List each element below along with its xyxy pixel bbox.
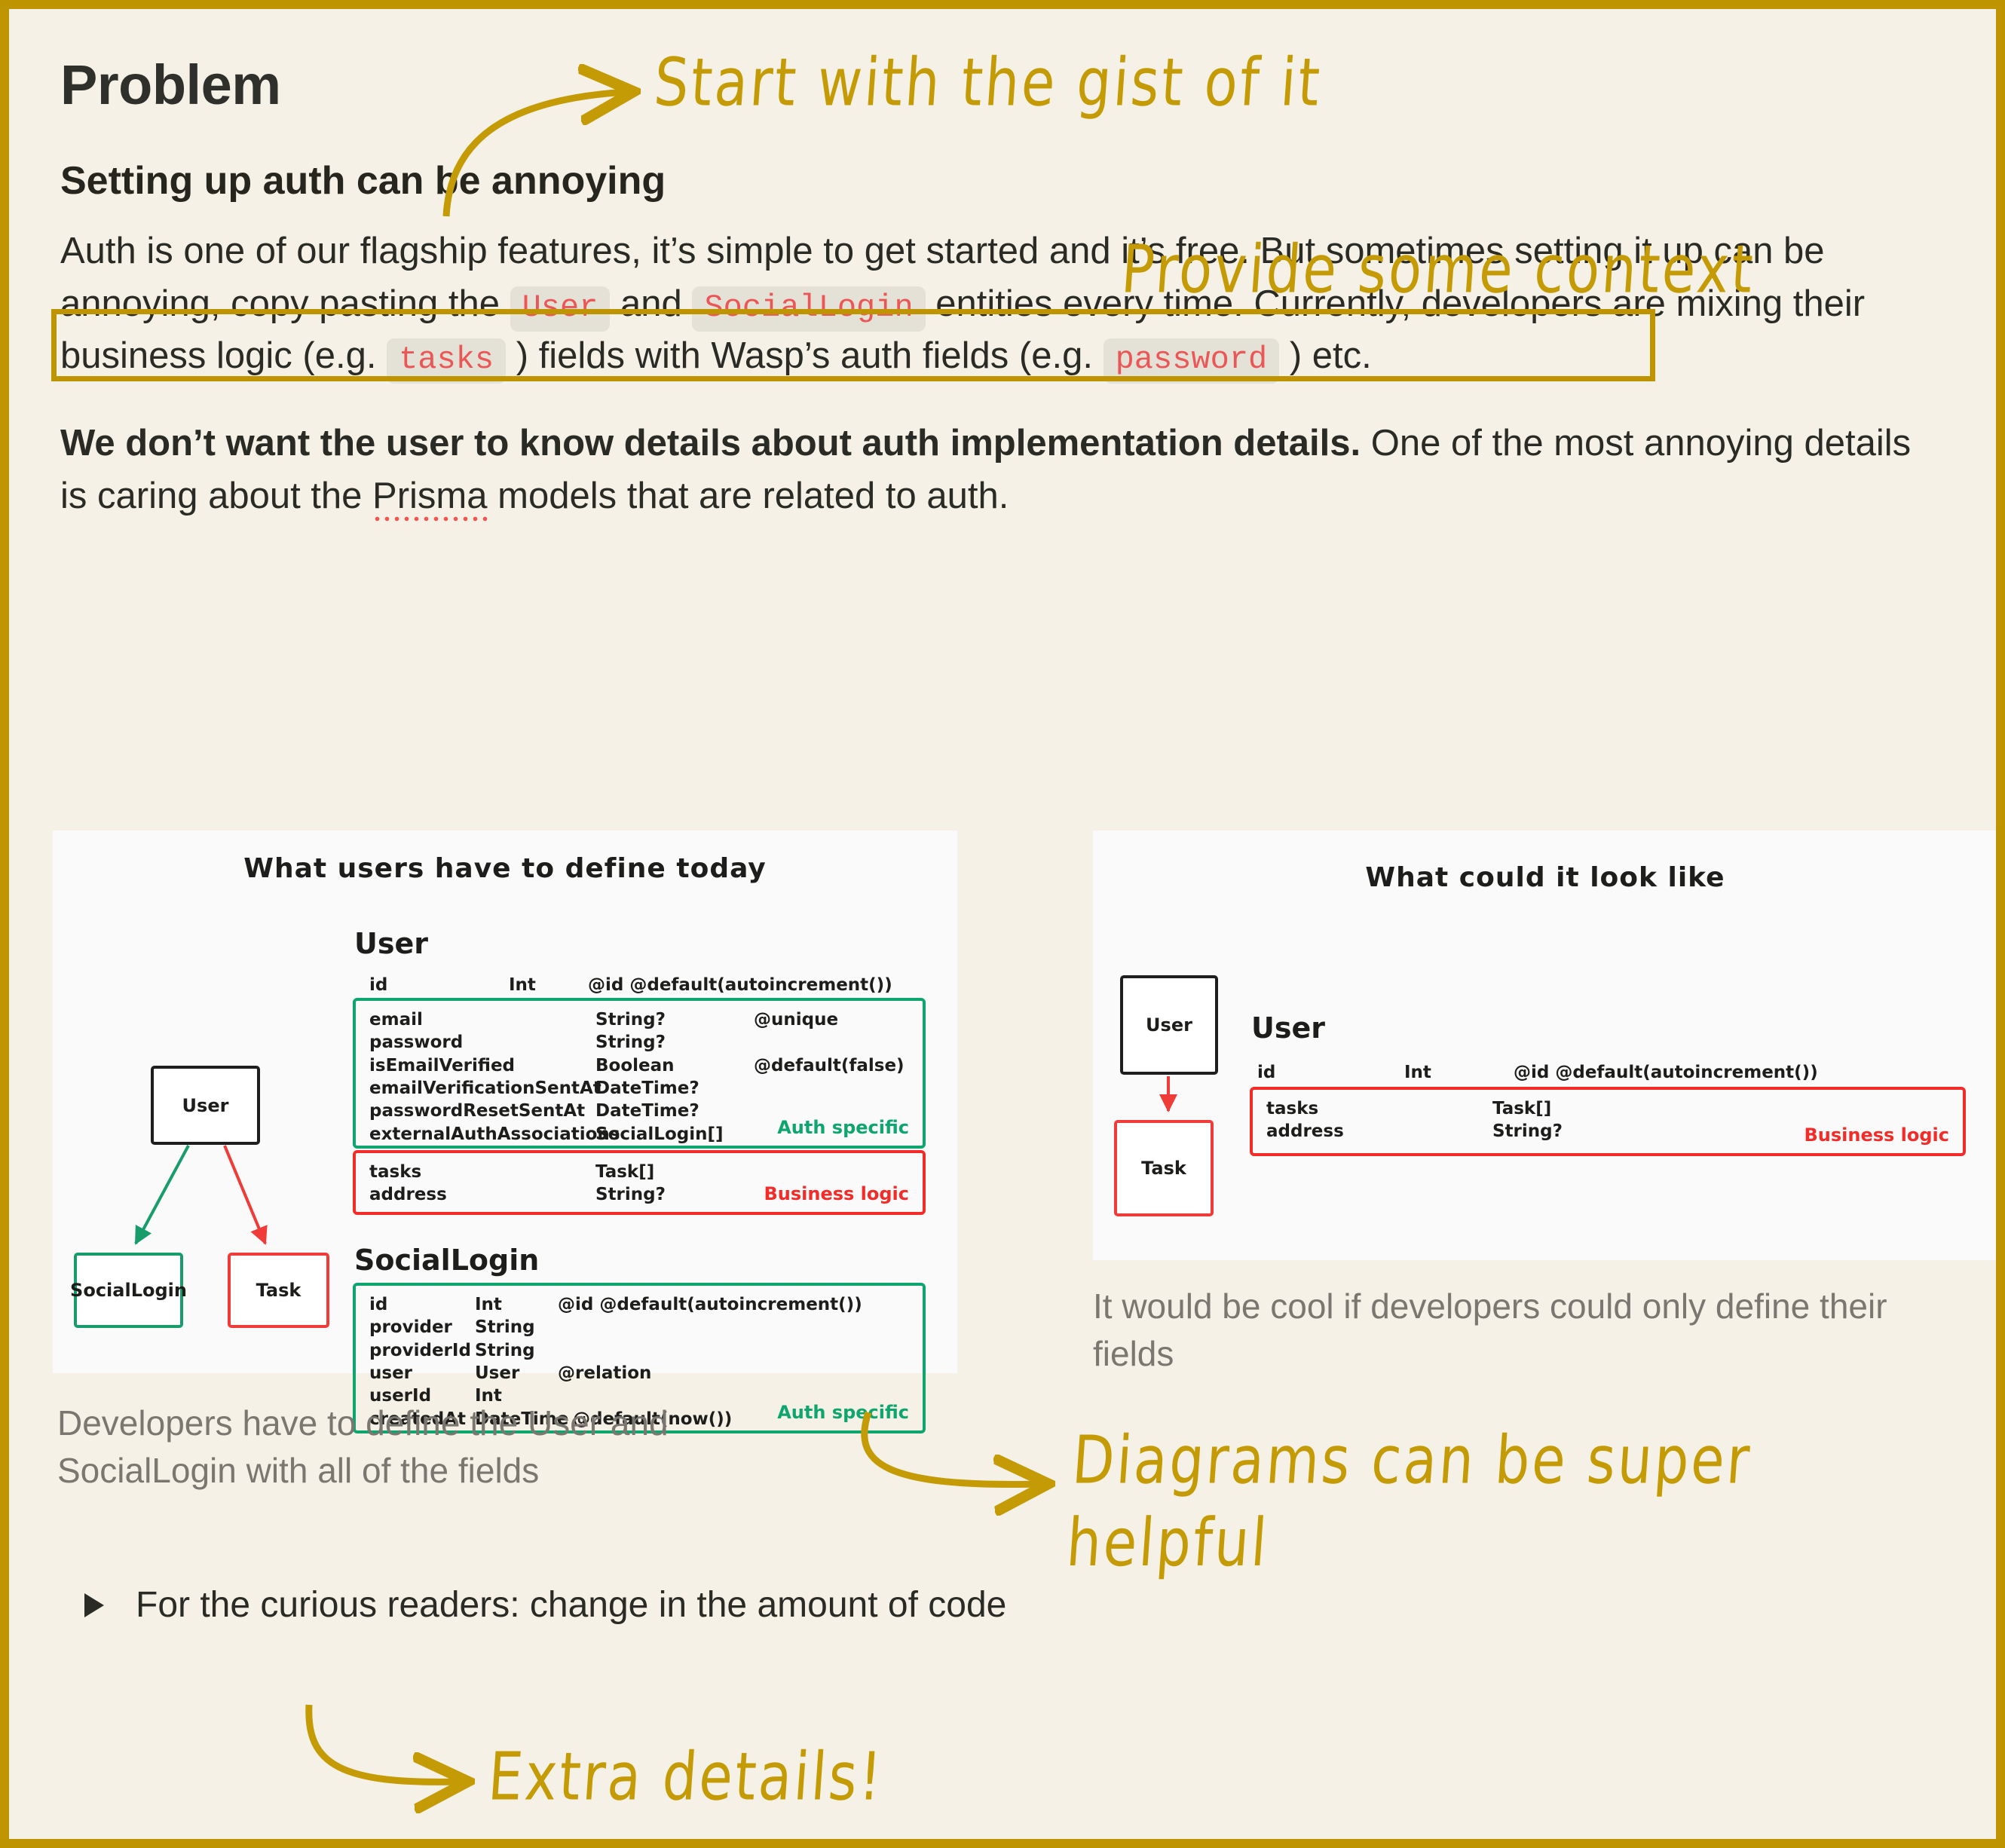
field-row: userUser@relation: [369, 1362, 909, 1384]
field-type: String: [475, 1316, 558, 1339]
field-type: Int: [1404, 1063, 1514, 1082]
highlighted-sentence: Auth is one of our flagship features, it…: [60, 231, 1250, 271]
field-row: emailVerificationSentAtDateTime?: [369, 1077, 909, 1100]
field-row: emailString?@unique: [369, 1008, 909, 1031]
group-business-logic-user: tasksTask[] addressString? Business logi…: [353, 1150, 926, 1215]
field-name: isEmailVerified: [369, 1054, 595, 1077]
section-subtitle: Setting up auth can be annoying: [60, 159, 1960, 204]
model-name-user-right: User: [1251, 1011, 1325, 1045]
field-type: String: [475, 1339, 558, 1362]
group-auth-specific-user: emailString?@unique passwordString? isEm…: [353, 998, 926, 1149]
er-node-label: SocialLogin: [70, 1280, 187, 1301]
paragraph-1-mid3: ) fields with Wasp’s auth fields (e.g.: [506, 335, 1104, 376]
code-user: User: [510, 286, 611, 332]
field-attrs: [558, 1316, 909, 1339]
field-name: id: [369, 975, 509, 995]
field-row-id: idInt@id @default(autoincrement()): [369, 975, 892, 995]
paragraph-2-tail: models that are related to auth.: [488, 476, 1009, 516]
field-name: address: [1266, 1120, 1492, 1143]
slide-root: Problem Setting up auth can be annoying …: [0, 0, 2005, 1848]
annotation-provide-context: Provide some context: [1119, 228, 1758, 311]
er-node-label: Task: [1141, 1158, 1186, 1179]
field-row-id: idInt@id @default(autoincrement()): [1257, 1063, 1818, 1082]
field-name: id: [1257, 1063, 1404, 1082]
field-name: passwordResetSentAt: [369, 1100, 595, 1122]
field-name: address: [369, 1183, 595, 1206]
triangle-right-icon[interactable]: [84, 1593, 104, 1617]
field-attrs: [558, 1339, 909, 1362]
field-row: isEmailVerifiedBoolean@default(false): [369, 1054, 909, 1077]
field-type: String?: [595, 1183, 754, 1206]
field-name: tasks: [1266, 1097, 1492, 1120]
paragraph-1-mid1: and: [610, 283, 692, 324]
code-password: password: [1104, 338, 1280, 384]
er-node-label: Task: [256, 1280, 302, 1301]
paragraph-2-bold: We don’t want the user to know details a…: [60, 423, 1361, 464]
paragraph-2: We don’t want the user to know details a…: [60, 418, 1930, 522]
field-name: email: [369, 1008, 595, 1031]
annotation-diagrams-helpful: Diagrams can be super helpful: [1064, 1418, 1755, 1584]
er-arrows-right: [1093, 831, 1997, 1260]
diagram-left-title: What users have to define today: [53, 853, 957, 884]
field-attrs: @id @default(autoincrement()): [558, 1293, 909, 1316]
caption-right: It would be cool if developers could onl…: [1093, 1283, 1937, 1378]
field-type: User: [475, 1362, 558, 1384]
details-disclosure[interactable]: For the curious readers: change in the a…: [84, 1584, 1006, 1626]
group-label-auth-specific: Auth specific: [777, 1117, 909, 1138]
field-name: providerId: [369, 1339, 475, 1362]
diagram-right-panel: What could it look like User Task User i…: [1093, 831, 1997, 1260]
field-attrs: @id @default(autoincrement()): [1514, 1063, 1818, 1082]
diagram-left-panel: What users have to define today User Soc…: [53, 831, 957, 1373]
field-row: providerString: [369, 1316, 909, 1339]
field-attrs: [754, 1077, 909, 1100]
field-attrs: [754, 1031, 909, 1054]
er-node-user-left: User: [151, 1066, 260, 1145]
field-type: DateTime?: [595, 1077, 754, 1100]
field-type: Boolean: [595, 1054, 754, 1077]
er-node-task-right: Task: [1114, 1120, 1214, 1216]
diagram-right-title: What could it look like: [1093, 862, 1997, 893]
field-type: Task[]: [1492, 1097, 1651, 1120]
field-name: password: [369, 1031, 595, 1054]
caption-left: Developers have to define the User and S…: [57, 1400, 856, 1495]
field-row: tasksTask[]: [369, 1161, 909, 1183]
group-label-business-logic: Business logic: [1804, 1124, 1949, 1146]
field-row: idInt@id @default(autoincrement()): [369, 1293, 909, 1316]
field-attrs: [754, 1161, 909, 1183]
model-name-user-left: User: [354, 927, 428, 960]
field-attrs: @default(false): [754, 1054, 909, 1077]
code-sociallogin: SocialLogin: [692, 286, 925, 332]
annotation-extra-details: Extra details!: [485, 1735, 886, 1818]
details-summary-label[interactable]: For the curious readers: change in the a…: [136, 1584, 1006, 1626]
field-row: passwordString?: [369, 1031, 909, 1054]
er-node-label: User: [1146, 1014, 1192, 1036]
model-name-sociallogin: SocialLogin: [354, 1244, 539, 1277]
er-node-label: User: [182, 1095, 229, 1116]
field-type: String?: [595, 1008, 754, 1031]
field-name: emailVerificationSentAt: [369, 1077, 595, 1100]
field-attrs: @unique: [754, 1008, 909, 1031]
code-tasks: tasks: [387, 338, 506, 384]
field-type: String?: [1492, 1120, 1651, 1143]
group-label-business-logic: Business logic: [764, 1183, 909, 1204]
field-name: user: [369, 1362, 475, 1384]
paragraph-1-tail: ) etc.: [1279, 335, 1372, 376]
field-name: tasks: [369, 1161, 595, 1183]
field-type: Int: [475, 1293, 558, 1316]
field-name: id: [369, 1293, 475, 1316]
field-name: provider: [369, 1316, 475, 1339]
field-type: Task[]: [595, 1161, 754, 1183]
field-type: SocialLogin[]: [595, 1123, 754, 1146]
field-attrs: @relation: [558, 1362, 909, 1384]
spellchecked-word: Prisma: [372, 476, 487, 524]
field-type: String?: [595, 1031, 754, 1054]
field-name: externalAuthAssociations: [369, 1123, 595, 1146]
annotation-start-with-gist: Start with the gist of it: [651, 41, 1324, 124]
field-type: Int: [509, 975, 588, 995]
field-attrs: @id @default(autoincrement()): [588, 975, 892, 995]
er-node-user-right: User: [1120, 975, 1218, 1075]
field-row: providerIdString: [369, 1339, 909, 1362]
field-row: tasksTask[]: [1266, 1097, 1949, 1120]
field-type: DateTime?: [595, 1100, 754, 1122]
group-business-logic-right: tasksTask[] addressString? Business logi…: [1250, 1087, 1966, 1156]
field-attrs: [1651, 1097, 1949, 1120]
er-node-task-left: Task: [228, 1253, 329, 1328]
er-node-sociallogin: SocialLogin: [74, 1253, 183, 1328]
